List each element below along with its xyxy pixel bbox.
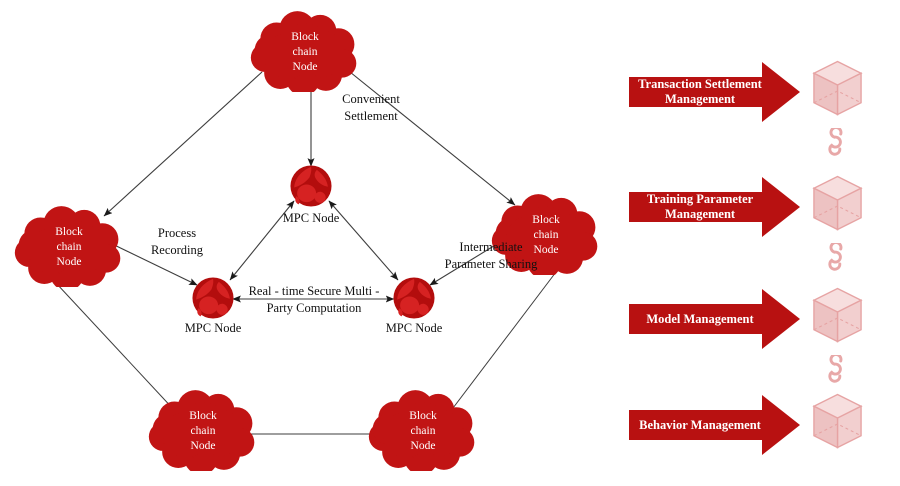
blockchain-node-bottom-right-line3: Node	[411, 440, 436, 452]
edge-label-process-recording: Process Recording	[151, 226, 204, 257]
diagram-canvas: Block chain Node Block chain Node Block …	[0, 0, 900, 486]
diagram-svg: Block chain Node Block chain Node Block …	[0, 0, 900, 486]
blockchain-node-left[interactable]: Block chain Node	[15, 206, 120, 291]
mpc-node-left-label: MPC Node	[185, 321, 242, 335]
mpc-node-top[interactable]	[290, 165, 331, 206]
real-time-smpc-line1: Real - time Secure Multi -	[249, 284, 380, 298]
edge-label-convenient-settlement: Convenient Settlement	[342, 92, 400, 123]
blockchain-node-right-line2: chain	[534, 229, 559, 241]
blockchain-node-bottom-left[interactable]: Block chain Node	[149, 390, 254, 475]
edge-bcright-bcbottomright	[450, 272, 556, 412]
arrow-label-training-line2: Management	[665, 207, 736, 221]
blockchain-node-top[interactable]: Block chain Node	[251, 11, 356, 96]
blockchain-node-bottom-right-line2: chain	[411, 425, 436, 437]
process-recording-line2: Recording	[151, 243, 204, 257]
cube-icon-model-management[interactable]	[814, 289, 861, 342]
blockchain-node-top-line1: Block	[291, 31, 319, 43]
chain-link-icon-3	[830, 354, 841, 381]
cube-icon-behavior-management[interactable]	[814, 395, 861, 448]
blockchain-node-right-line3: Node	[534, 244, 559, 256]
real-time-smpc-line2: Party Computation	[267, 301, 363, 315]
edge-bcleft-bcbottomleft	[56, 283, 176, 412]
blockchain-node-right-line1: Block	[532, 214, 560, 226]
arrow-label-transaction-line2: Management	[665, 92, 736, 106]
blockchain-node-top-line2: chain	[293, 46, 318, 58]
blockchain-node-left-line1: Block	[55, 226, 83, 238]
blockchain-node-left-line2: chain	[57, 241, 82, 253]
blockchain-node-bottom-right-line1: Block	[409, 410, 437, 422]
blockchain-node-top-line3: Node	[293, 61, 318, 73]
arrow-label-transaction-line1: Transaction Settlement	[638, 77, 763, 91]
intermediate-parameter-line2: Parameter Sharing	[445, 257, 538, 271]
blockchain-node-bottom-left-line1: Block	[189, 410, 217, 422]
convenient-settlement-line2: Settlement	[344, 109, 398, 123]
mpc-node-right[interactable]	[393, 277, 434, 318]
edge-bctop-bcleft	[104, 72, 262, 216]
mpc-node-top-label: MPC Node	[283, 211, 340, 225]
blockchain-node-bottom-left-line3: Node	[191, 440, 216, 452]
flow-transaction-settlement-management[interactable]: Transaction Settlement Management	[629, 62, 800, 122]
convenient-settlement-line1: Convenient	[342, 92, 400, 106]
cube-icon-training-parameter[interactable]	[814, 177, 861, 230]
intermediate-parameter-line1: Intermediate	[459, 240, 523, 254]
management-flows-panel: Transaction Settlement Management Traini…	[629, 62, 861, 456]
flow-behavior-management[interactable]: Behavior Management	[629, 395, 800, 455]
mpc-node-left[interactable]	[192, 277, 233, 318]
arrow-label-training-line1: Training Parameter	[647, 192, 754, 206]
flow-training-parameter-management[interactable]: Training Parameter Management	[629, 177, 800, 237]
flow-model-management[interactable]: Model Management	[629, 289, 800, 349]
mpc-node-right-label: MPC Node	[386, 321, 443, 335]
blockchain-node-bottom-right[interactable]: Block chain Node	[369, 390, 474, 475]
chain-link-icon-2	[830, 242, 841, 269]
cube-icon-transaction-settlement[interactable]	[814, 62, 861, 115]
edge-mpctop-mpcright	[329, 201, 398, 280]
arrow-label-model-line1: Model Management	[646, 312, 754, 326]
process-recording-line1: Process	[158, 226, 196, 240]
chain-link-icon-1	[830, 127, 841, 154]
blockchain-node-bottom-left-line2: chain	[191, 425, 216, 437]
blockchain-node-left-line3: Node	[57, 256, 82, 268]
arrow-label-behavior-line1: Behavior Management	[639, 418, 761, 432]
